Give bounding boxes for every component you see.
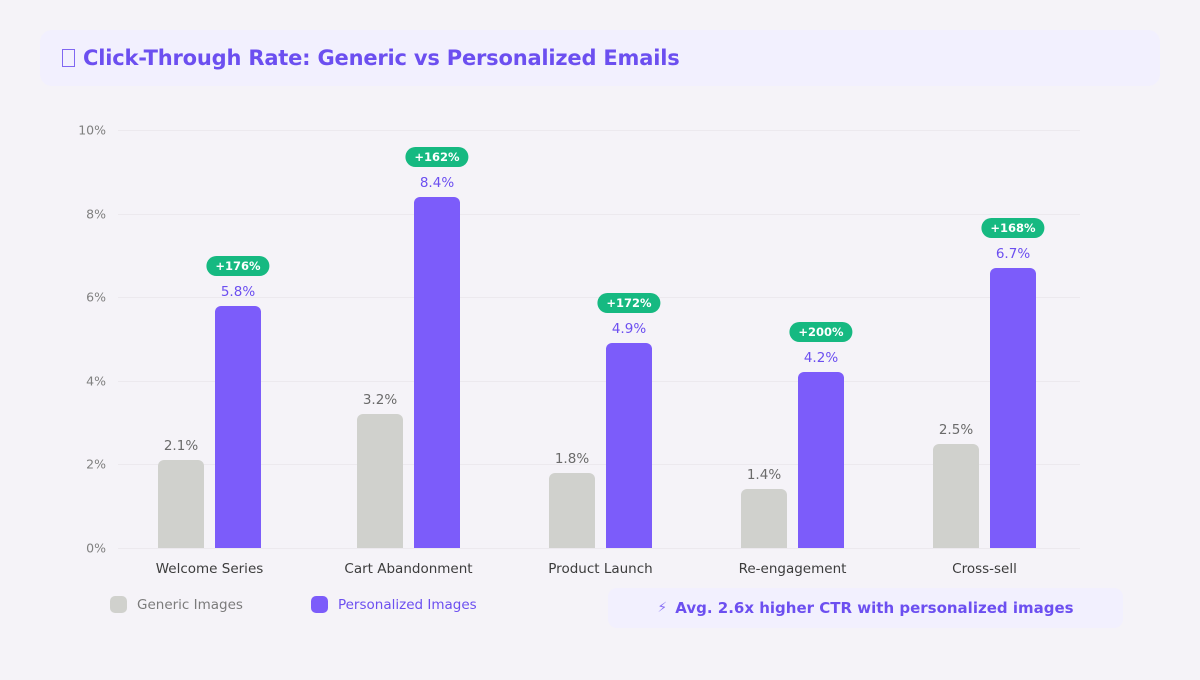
gridline	[118, 130, 1080, 131]
bar-generic[interactable]	[549, 473, 595, 548]
summary-callout-text: Avg. 2.6x higher CTR with personalized i…	[675, 599, 1073, 617]
chart-legend: Generic Images Personalized Images	[110, 596, 477, 613]
bar-chart-plot-area: 0%2%4%6%8%10%2.1%5.8%+176%Welcome Series…	[0, 0, 1200, 680]
summary-callout: ⚡ Avg. 2.6x higher CTR with personalized…	[608, 588, 1123, 628]
bar-value-label: 3.2%	[340, 392, 420, 408]
y-axis-tick-label: 6%	[46, 290, 106, 305]
x-axis-category-label: Welcome Series	[110, 561, 310, 577]
lift-badge: +172%	[597, 293, 660, 313]
bar-generic[interactable]	[933, 444, 979, 549]
gridline	[118, 214, 1080, 215]
bar-value-label: 2.5%	[916, 422, 996, 438]
gridline	[118, 548, 1080, 549]
y-axis-tick-label: 10%	[46, 123, 106, 138]
lift-badge: +168%	[981, 218, 1044, 238]
x-axis-category-label: Re-engagement	[693, 561, 893, 577]
bar-value-label: 6.7%	[973, 246, 1053, 262]
legend-item-generic[interactable]: Generic Images	[110, 596, 243, 613]
x-axis-category-label: Cross-sell	[885, 561, 1085, 577]
legend-label-personalized: Personalized Images	[338, 597, 477, 613]
x-axis-category-label: Cart Abandonment	[309, 561, 509, 577]
bar-value-label: 4.9%	[589, 321, 669, 337]
bar-generic[interactable]	[158, 460, 204, 548]
bar-value-label: 1.4%	[724, 467, 804, 483]
lift-badge: +176%	[206, 256, 269, 276]
y-axis-tick-label: 4%	[46, 373, 106, 388]
bar-value-label: 5.8%	[198, 284, 278, 300]
bar-personalized[interactable]	[990, 268, 1036, 548]
lift-badge: +162%	[405, 147, 468, 167]
lightning-bolt-icon: ⚡	[657, 601, 667, 615]
bar-value-label: 2.1%	[141, 438, 221, 454]
bar-personalized[interactable]	[798, 372, 844, 548]
legend-label-generic: Generic Images	[137, 597, 243, 613]
lift-badge: +200%	[789, 322, 852, 342]
bar-generic[interactable]	[741, 489, 787, 548]
bar-value-label: 8.4%	[397, 175, 477, 191]
bar-value-label: 1.8%	[532, 451, 612, 467]
legend-swatch-personalized-icon	[311, 596, 328, 613]
y-axis-tick-label: 0%	[46, 541, 106, 556]
legend-item-personalized[interactable]: Personalized Images	[311, 596, 477, 613]
legend-swatch-generic-icon	[110, 596, 127, 613]
y-axis-tick-label: 2%	[46, 457, 106, 472]
bar-generic[interactable]	[357, 414, 403, 548]
bar-personalized[interactable]	[414, 197, 460, 548]
bar-personalized[interactable]	[606, 343, 652, 548]
y-axis-tick-label: 8%	[46, 206, 106, 221]
gridline	[118, 381, 1080, 382]
bar-personalized[interactable]	[215, 306, 261, 548]
bar-value-label: 4.2%	[781, 350, 861, 366]
x-axis-category-label: Product Launch	[501, 561, 701, 577]
